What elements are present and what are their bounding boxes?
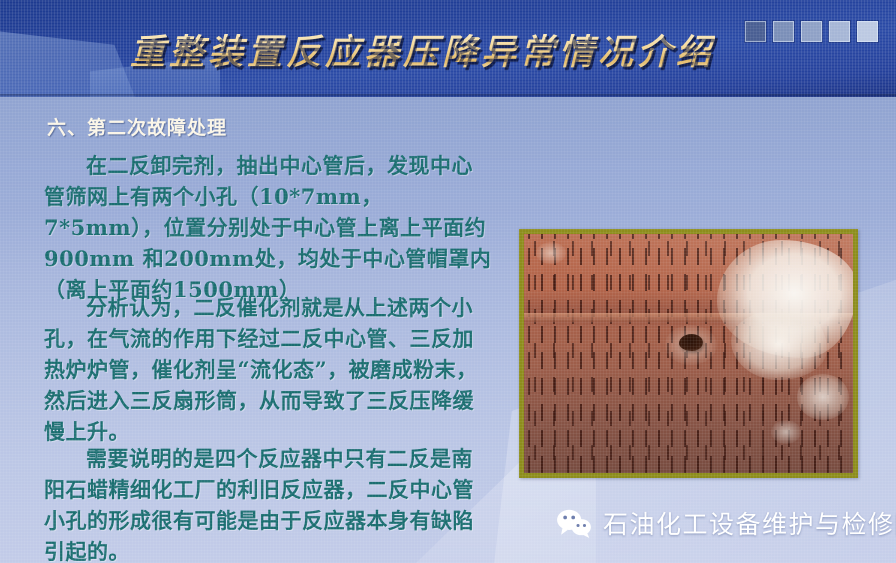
reactor-screen-photo xyxy=(519,229,858,478)
header-decor-squares xyxy=(745,21,878,42)
slide-header-band: 重整装置反应器压降异常情况介绍 重整装置反应器压降异常情况介绍 xyxy=(0,0,896,97)
body-paragraph-1: 在二反卸完剂，抽出中心管后，发现中心管筛网上有两个小孔（10*7mm，7*5mm… xyxy=(44,150,494,305)
watermark-label: 石油化工设备维护与检修网 xyxy=(603,505,896,541)
decor-square-5 xyxy=(857,21,878,42)
section-heading: 六、第二次故障处理 xyxy=(47,113,227,140)
header-bottom-edge xyxy=(0,94,896,97)
presentation-slide: 重整装置反应器压降异常情况介绍 重整装置反应器压降异常情况介绍 六、第二次故障处… xyxy=(0,0,896,563)
decor-square-4 xyxy=(829,21,850,42)
site-watermark: 石油化工设备维护与检修网 xyxy=(556,505,896,541)
wechat-icon xyxy=(556,509,592,538)
decor-square-3 xyxy=(801,21,822,42)
body-paragraph-3: 需要说明的是四个反应器中只有二反是南阳石蜡精细化工厂的利旧反应器，二反中心管小孔… xyxy=(44,443,494,563)
decor-square-1 xyxy=(745,21,766,42)
photo-shading-overlay xyxy=(524,234,853,473)
photo-image xyxy=(524,234,853,473)
decor-square-2 xyxy=(773,21,794,42)
body-paragraph-2: 分析认为，二反催化剂就是从上述两个小孔，在气流的作用下经过二反中心管、三反加热炉… xyxy=(44,292,494,447)
slide-title: 重整装置反应器压降异常情况介绍 xyxy=(130,24,715,75)
